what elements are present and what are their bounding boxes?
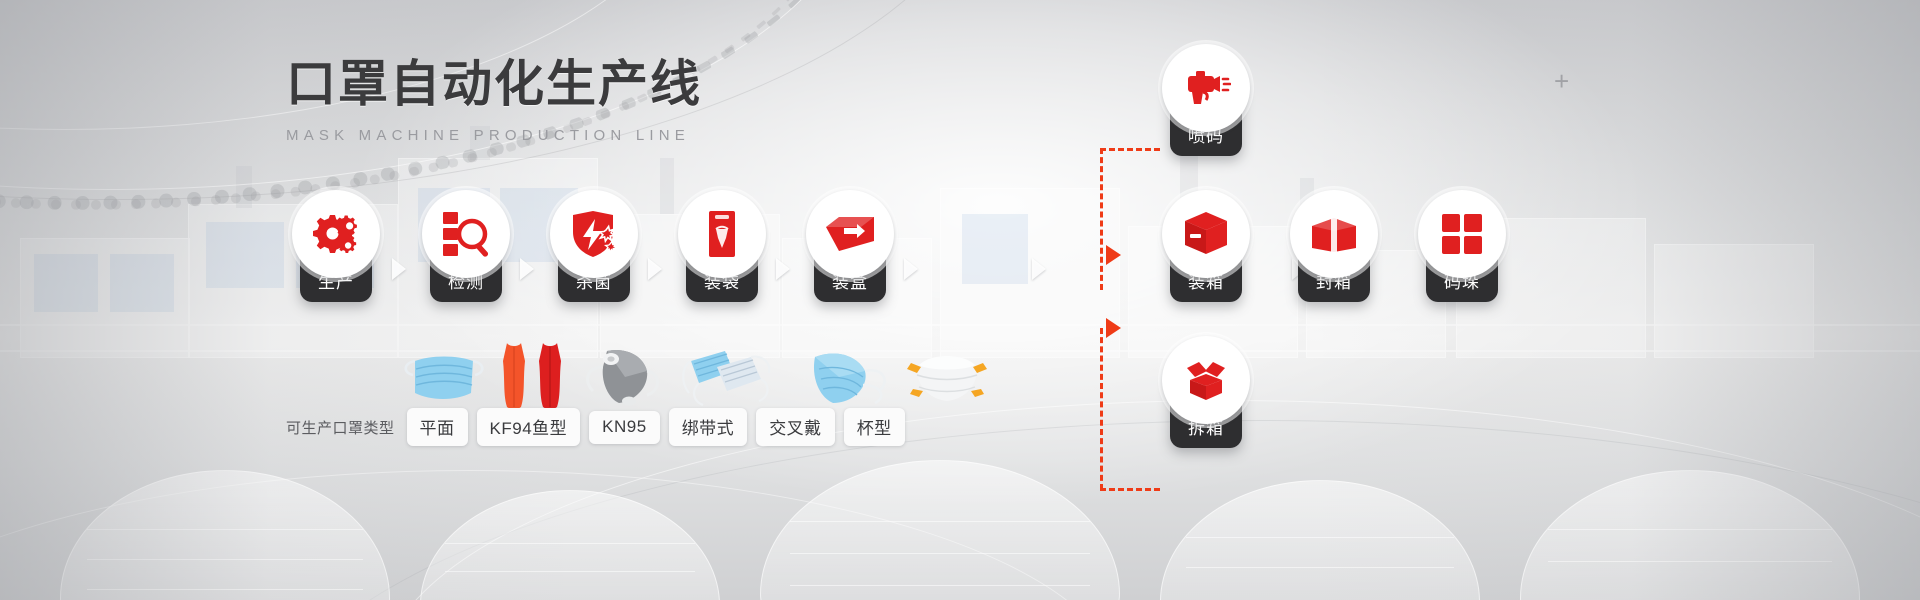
banner-heading: 口罩自动化生产线 MASK MACHINE PRODUCTION LINE — [286, 44, 702, 144]
branch-connector-top — [1100, 148, 1160, 151]
plus-decor-icon: + — [1554, 68, 1569, 94]
page-subtitle: MASK MACHINE PRODUCTION LINE — [286, 127, 702, 144]
node-disc — [1162, 336, 1250, 424]
inkjet-spray-gun-icon — [1181, 66, 1231, 110]
sterilize-shield-icon — [568, 210, 620, 258]
mask-types-label: 可生产口罩类型 — [286, 417, 395, 438]
flow-arrow — [648, 258, 662, 280]
branch-connector-bottom — [1100, 488, 1160, 491]
gears-icon — [310, 211, 362, 257]
node-disc — [806, 190, 894, 278]
cross-strap-blue-mask — [795, 345, 895, 414]
mask-type-chip[interactable]: KF94鱼型 — [477, 408, 581, 446]
red-arrow-from-unboxing — [1106, 318, 1121, 338]
mask-type-chip[interactable]: 杯型 — [844, 408, 905, 446]
mask-products — [395, 338, 1055, 416]
mask-type-chip[interactable]: 绑带式 — [669, 408, 748, 446]
node-disc — [678, 190, 766, 278]
bagging-pouch-icon — [705, 209, 739, 259]
closed-box-icon — [1182, 210, 1230, 258]
cup-white-mask — [905, 347, 989, 412]
inspection-magnifier-icon — [441, 210, 491, 258]
flow-arrow — [1032, 258, 1046, 280]
node-disc — [1162, 44, 1250, 132]
red-arrow-to-boxing — [1106, 245, 1121, 265]
tie-on-blue-mask — [677, 345, 787, 414]
flow-arrow — [520, 258, 534, 280]
flow-arrow — [904, 258, 918, 280]
node-disc — [1162, 190, 1250, 278]
kf94-red-mask — [535, 339, 565, 416]
node-disc — [550, 190, 638, 278]
kn95-gray-valve-mask — [581, 343, 667, 414]
palletize-stack-icon — [1440, 212, 1484, 256]
mask-type-chip[interactable]: KN95 — [589, 411, 660, 444]
boxing-carton-icon — [823, 214, 877, 254]
page-title: 口罩自动化生产线 — [286, 44, 702, 116]
mask-types-row: 可生产口罩类型 平面 KF94鱼型 KN95 绑带式 交叉戴 杯型 — [286, 408, 905, 446]
flat-blue-mask — [401, 349, 487, 412]
banner-stage: + 口罩自动化生产线 MASK MACHINE PRODUCTION LINE … — [0, 0, 1920, 600]
node-disc — [1290, 190, 1378, 278]
node-disc — [422, 190, 510, 278]
branch-connector-vertical-bottom — [1100, 328, 1103, 490]
flow-arrow — [392, 258, 406, 280]
branch-connector-vertical-top — [1100, 148, 1103, 290]
node-disc — [1418, 190, 1506, 278]
mask-type-chip[interactable]: 平面 — [407, 408, 468, 446]
sealed-box-icon — [1308, 214, 1360, 254]
mask-type-chip[interactable]: 交叉戴 — [756, 408, 835, 446]
kf94-orange-mask — [499, 339, 529, 416]
open-box-icon — [1181, 358, 1231, 402]
node-disc — [292, 190, 380, 278]
flow-arrow — [776, 258, 790, 280]
